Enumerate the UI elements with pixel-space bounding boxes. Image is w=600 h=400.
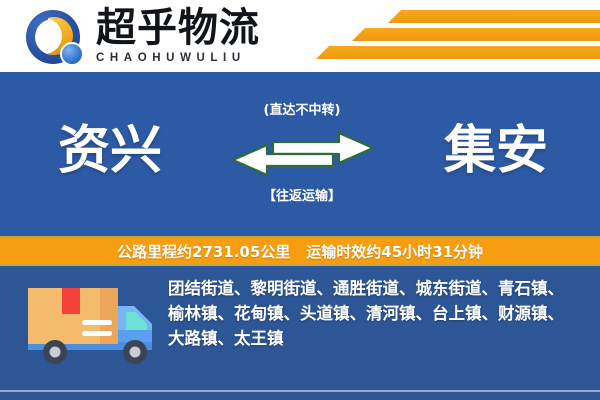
logo-sphere-icon	[60, 42, 84, 66]
bidirectional-arrow-icon	[227, 129, 379, 177]
coverage-line: 榆林镇、花甸镇、头道镇、清河镇、台上镇、财源镇、	[168, 301, 582, 326]
route-note-roundtrip: 【往返运输】	[232, 185, 372, 204]
route-section: 资兴 (直达不中转) 【往返运输】 集安	[0, 75, 600, 236]
brand-name-en: CHAOHUWULIU	[96, 51, 316, 65]
coverage-line: 团结街道、黎明街道、通胜街道、城东街道、青石镇、	[168, 276, 582, 301]
coverage-area-list: 团结街道、黎明街道、通胜街道、城东街道、青石镇、 榆林镇、花甸镇、头道镇、清河镇…	[168, 276, 582, 351]
delivery-truck-icon	[22, 278, 162, 364]
origin-city: 资兴	[58, 121, 162, 181]
coverage-section: 团结街道、黎明街道、通胜街道、城东街道、青石镇、 榆林镇、花甸镇、头道镇、清河镇…	[0, 266, 600, 400]
destination-city: 集安	[444, 121, 548, 181]
coverage-line: 大路镇、太王镇	[168, 326, 582, 351]
company-logo	[26, 8, 88, 68]
route-info-bar: 公路里程约2731.05公里 运输时效约45小时31分钟	[0, 236, 600, 266]
header-bar: 超乎物流 CHAOHUWULIU	[0, 0, 600, 75]
orange-speed-stripes-icon	[310, 6, 600, 68]
stripe-1	[388, 10, 600, 23]
route-arrow-block: (直达不中转) 【往返运输】	[232, 97, 372, 215]
coverage-bottom-divider	[0, 390, 600, 392]
stripe-2	[352, 28, 600, 41]
distance-text: 公路里程约2731.05公里	[117, 241, 290, 262]
stripe-3	[316, 46, 600, 59]
brand-name-cn: 超乎物流	[96, 6, 316, 50]
duration-text: 运输时效约45小时31分钟	[306, 241, 483, 262]
logistics-route-banner: 超乎物流 CHAOHUWULIU 资兴 (直达不中转) 【往返运输】	[0, 0, 600, 400]
brand-block: 超乎物流 CHAOHUWULIU	[96, 6, 316, 65]
route-note-direct: (直达不中转)	[232, 99, 372, 118]
